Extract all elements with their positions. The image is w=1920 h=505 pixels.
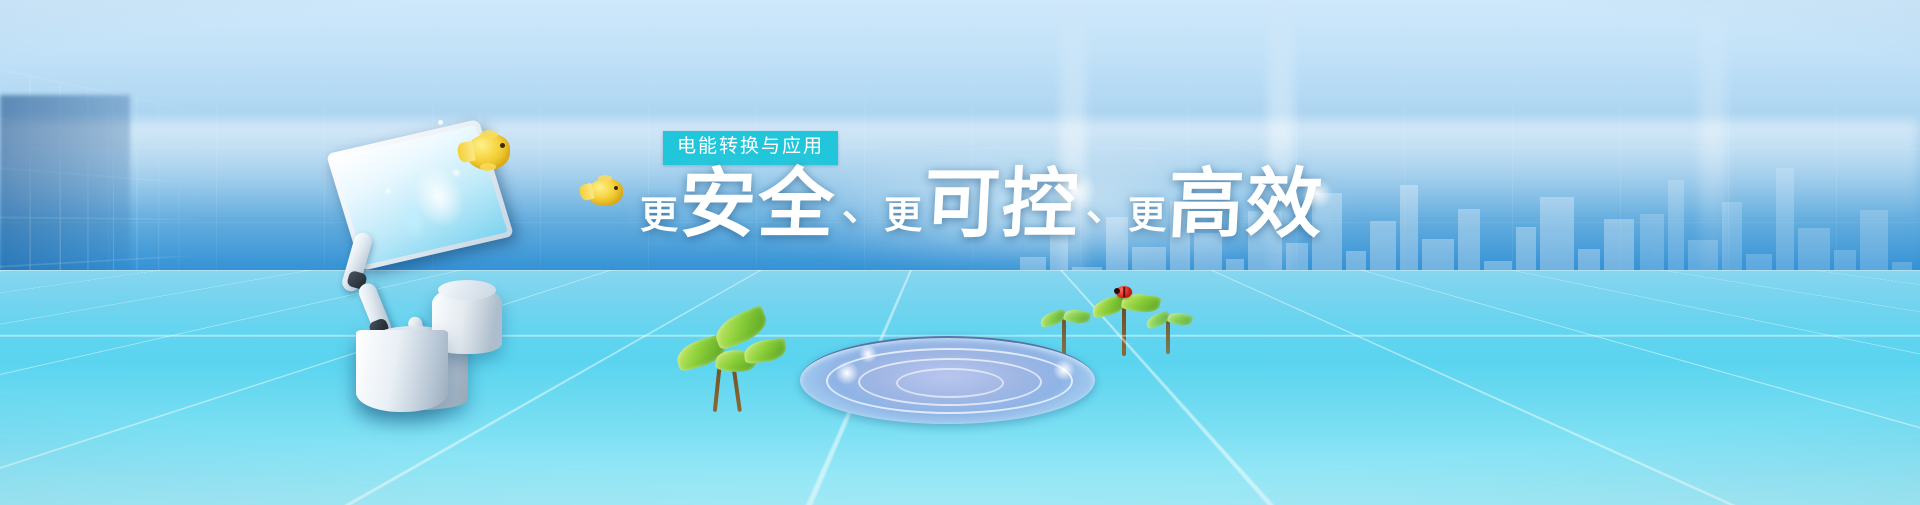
fish-fin xyxy=(480,163,496,171)
sprout-stem xyxy=(1122,304,1126,356)
fish-fin xyxy=(480,130,498,139)
fish-eye xyxy=(500,143,505,148)
sprout-stem xyxy=(1166,320,1170,354)
headline-prefix-3: 更 xyxy=(1128,197,1166,241)
pool-glint xyxy=(1052,358,1076,382)
fish-eye xyxy=(614,186,618,190)
ripple-ring xyxy=(896,368,1004,398)
hero-banner: 电能转换与应用 更 安全 、 更 可控 、 更 高效 xyxy=(0,0,1920,505)
ladybug xyxy=(1116,286,1132,298)
water-ripple-pool xyxy=(800,336,1095,424)
headline-separator-1: 、 xyxy=(838,187,884,241)
headline-separator-2: 、 xyxy=(1082,187,1128,241)
headline-prefix-2: 更 xyxy=(884,197,922,241)
headline-keyword-1: 安全 xyxy=(678,168,838,241)
pool-glint xyxy=(834,360,860,386)
fish-tail xyxy=(456,141,475,163)
page-title: 更 安全 、 更 可控 、 更 高效 xyxy=(640,168,1326,241)
cylinder-pedestal-tall xyxy=(356,330,448,412)
green-sprout xyxy=(1146,306,1192,354)
tropical-fish xyxy=(580,175,628,209)
headline-keyword-2: 可控 xyxy=(922,168,1082,241)
headline-prefix-1: 更 xyxy=(640,197,678,241)
sprout-leaf xyxy=(743,338,787,364)
fish-fin xyxy=(598,175,612,182)
green-sprout xyxy=(676,306,786,411)
tropical-fish xyxy=(458,130,516,174)
headline-keyword-3: 高效 xyxy=(1166,168,1326,241)
sprout-leaf xyxy=(1063,307,1091,325)
sprout-leaf xyxy=(1167,310,1193,327)
cylinder-pedestal-secondary-top xyxy=(438,280,496,300)
pool-glint xyxy=(858,344,878,364)
